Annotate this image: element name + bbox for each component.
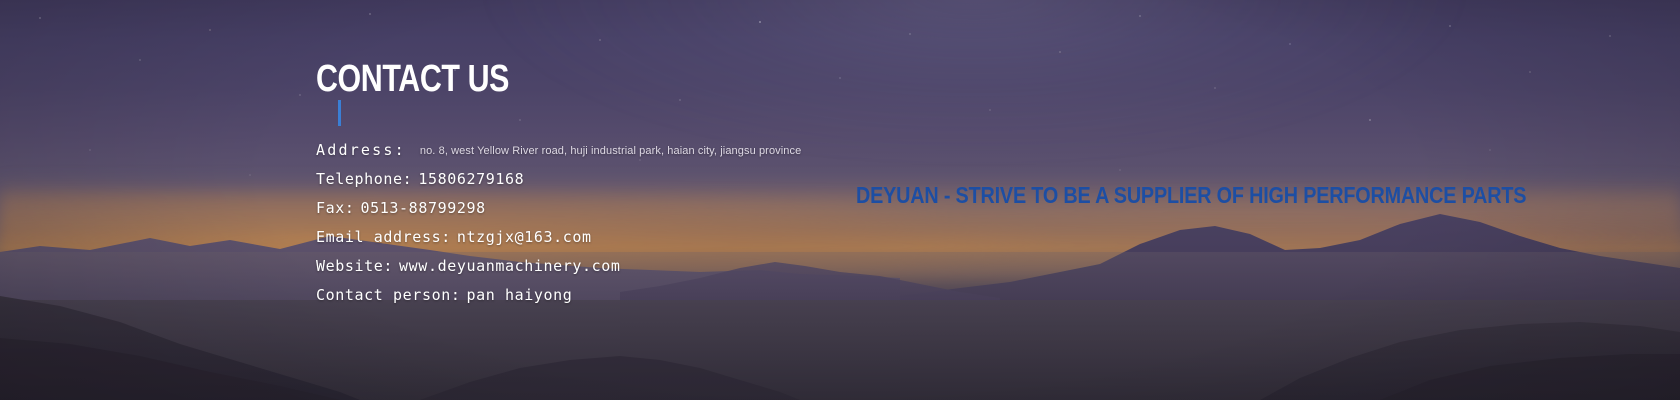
contact-person-value: pan haiyong bbox=[466, 286, 572, 304]
contact-row-website: Website: www.deyuanmachinery.com bbox=[316, 257, 801, 286]
contact-row-address: Address: no. 8, west Yellow River road, … bbox=[316, 141, 801, 170]
contact-us-heading: CONTACT US bbox=[316, 58, 509, 100]
contact-row-fax: Fax: 0513-88799298 bbox=[316, 199, 801, 228]
contact-row-contact-person: Contact person: pan haiyong bbox=[316, 286, 801, 315]
contact-footer-banner: CONTACT US Address: no. 8, west Yellow R… bbox=[0, 0, 1680, 400]
email-label: Email address: bbox=[316, 228, 451, 246]
contact-row-email: Email address: ntzgjx@163.com bbox=[316, 228, 801, 257]
website-value[interactable]: www.deyuanmachinery.com bbox=[399, 257, 621, 275]
contact-row-telephone: Telephone: 15806279168 bbox=[316, 170, 801, 199]
telephone-label: Telephone: bbox=[316, 170, 412, 188]
banner-content: CONTACT US Address: no. 8, west Yellow R… bbox=[0, 0, 1680, 400]
contact-person-label: Contact person: bbox=[316, 286, 460, 304]
address-value: no. 8, west Yellow River road, huji indu… bbox=[420, 145, 801, 157]
email-value[interactable]: ntzgjx@163.com bbox=[457, 228, 592, 246]
company-tagline: DEYUAN - STRIVE TO BE A SUPPLIER OF HIGH… bbox=[856, 182, 1526, 208]
heading-accent-bar bbox=[338, 100, 341, 126]
fax-value: 0513-88799298 bbox=[361, 199, 486, 217]
telephone-value[interactable]: 15806279168 bbox=[418, 170, 524, 188]
website-label: Website: bbox=[316, 257, 393, 275]
contact-details-list: Address: no. 8, west Yellow River road, … bbox=[316, 141, 801, 315]
address-label: Address: bbox=[316, 141, 406, 159]
fax-label: Fax: bbox=[316, 199, 355, 217]
